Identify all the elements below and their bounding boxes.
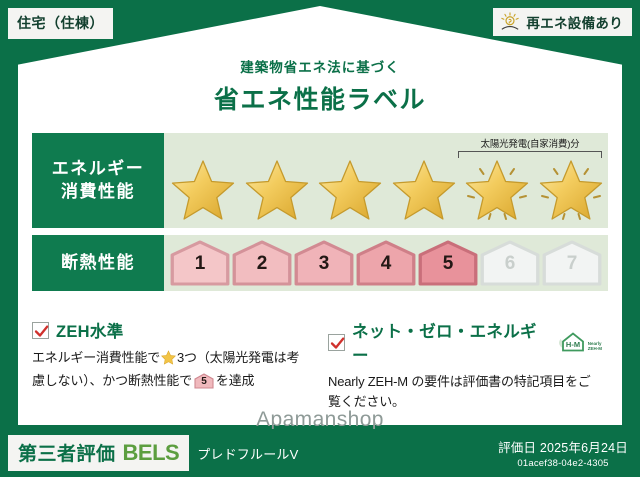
- building-name: プレドフルールV: [197, 444, 298, 463]
- zeh-m-logo: H-M Nearly ZEH-M: [557, 330, 602, 354]
- net-zero-title: ネット・ゼロ・エネルギー: [352, 318, 546, 366]
- house-shape-icon: [232, 240, 292, 286]
- house-shape-icon: [418, 240, 478, 286]
- energy-row-label: エネルギー 消費性能: [32, 133, 164, 228]
- star-icon: [538, 158, 604, 222]
- evaluation-date: 評価日 2025年6月24日: [498, 437, 628, 456]
- zeh-standard-head: ZEH水準: [32, 318, 306, 342]
- house-shape-icon: [170, 240, 230, 286]
- energy-label-line1: エネルギー: [52, 158, 145, 181]
- inline-house-icon: 5: [194, 373, 214, 389]
- performance-rows: エネルギー 消費性能 太陽光発電(自家消費)分 断熱性能 1234567: [32, 133, 608, 298]
- insulation-row-label: 断熱性能: [32, 235, 164, 291]
- insulation-level-6: 6: [480, 240, 540, 286]
- sun-icon: [499, 12, 521, 32]
- star-solar: [538, 158, 604, 222]
- net-zero-head: ネット・ゼロ・エネルギー H-M Nearly ZEH-M: [328, 318, 602, 366]
- energy-performance-row: エネルギー 消費性能 太陽光発電(自家消費)分: [32, 133, 608, 228]
- house-shape-icon: [294, 240, 354, 286]
- house-type-tag: 住宅（住棟）: [8, 8, 113, 39]
- title-main: 省エネ性能ラベル: [0, 80, 640, 116]
- energy-row-body: 太陽光発電(自家消費)分: [164, 133, 608, 228]
- star-filled: [170, 158, 236, 222]
- title-subtitle: 建築物省エネ法に基づく: [0, 56, 640, 76]
- renewable-equipment-tag: 再エネ設備あり: [493, 8, 632, 36]
- insulation-level-scale: 1234567: [170, 240, 602, 286]
- energy-label-line2: 消費性能: [61, 181, 135, 204]
- net-zero-description: Nearly ZEH-M の要件は評価書の特記項目をご覧ください。: [328, 372, 602, 412]
- insulation-performance-row: 断熱性能 1234567: [32, 235, 608, 291]
- insulation-level-4: 4: [356, 240, 416, 286]
- bels-jp-label: 第三者評価: [18, 439, 116, 466]
- star-rating: [170, 158, 604, 222]
- bels-en-label: BELS: [123, 440, 180, 466]
- certificate-id: 01acef38-04e2-4305: [498, 458, 628, 469]
- renewable-tag-label: 再エネ設備あり: [526, 12, 623, 32]
- inline-house-number: 5: [194, 373, 214, 389]
- energy-label-root: 住宅（住棟） 再エネ設備あり 建築物省エネ法に基づく 省エネ性能ラベル: [0, 0, 640, 477]
- logo-caption-line2: ZEH-M: [588, 346, 602, 351]
- zeh-standard-block: ZEH水準 エネルギー消費性能で3つ（太陽光発電は考慮しない）、かつ断熱性能で5…: [32, 318, 320, 412]
- star-icon: [391, 158, 457, 222]
- star-filled: [317, 158, 383, 222]
- star-filled: [244, 158, 310, 222]
- bels-chip: 第三者評価 BELS: [8, 435, 189, 471]
- insulation-level-2: 2: [232, 240, 292, 286]
- insulation-level-3: 3: [294, 240, 354, 286]
- zeh-standard-checkbox[interactable]: [32, 322, 49, 339]
- house-shape-icon: [542, 240, 602, 286]
- net-zero-checkbox[interactable]: [328, 334, 345, 351]
- bracket-shape: [458, 151, 602, 158]
- net-zero-energy-block: ネット・ゼロ・エネルギー H-M Nearly ZEH-M Nearly ZEH…: [320, 318, 616, 412]
- zeh-standard-title: ZEH水準: [56, 318, 124, 342]
- star-solar: [464, 158, 530, 222]
- insulation-row-body: 1234567: [164, 235, 608, 291]
- star-icon: [170, 158, 236, 222]
- star-icon: [464, 158, 530, 222]
- star-filled: [391, 158, 457, 222]
- solar-share-caption: 太陽光発電(自家消費)分: [458, 136, 602, 150]
- zeh-m-logo-caption: Nearly ZEH-M: [588, 341, 602, 354]
- footer-meta: 評価日 2025年6月24日 01acef38-04e2-4305: [498, 437, 628, 469]
- certification-checks: ZEH水準 エネルギー消費性能で3つ（太陽光発電は考慮しない）、かつ断熱性能で5…: [32, 318, 616, 412]
- insulation-level-1: 1: [170, 240, 230, 286]
- insulation-level-7: 7: [542, 240, 602, 286]
- house-shape-icon: [480, 240, 540, 286]
- footer-bar: 第三者評価 BELS プレドフルールV 評価日 2025年6月24日 01ace…: [0, 429, 640, 477]
- zeh-standard-description: エネルギー消費性能で3つ（太陽光発電は考慮しない）、かつ断熱性能で5を達成: [32, 348, 306, 391]
- inline-star-icon: [161, 353, 176, 368]
- zeh-desc-part3: を達成: [216, 373, 254, 388]
- zeh-desc-part1: エネルギー消費性能で: [32, 350, 160, 365]
- star-icon: [244, 158, 310, 222]
- solar-share-bracket: 太陽光発電(自家消費)分: [458, 136, 602, 158]
- house-shape-icon: [356, 240, 416, 286]
- star-icon: [317, 158, 383, 222]
- zeh-m-logo-text: H-M: [566, 340, 580, 349]
- insulation-level-5: 5: [418, 240, 478, 286]
- title-block: 建築物省エネ法に基づく 省エネ性能ラベル: [0, 56, 640, 116]
